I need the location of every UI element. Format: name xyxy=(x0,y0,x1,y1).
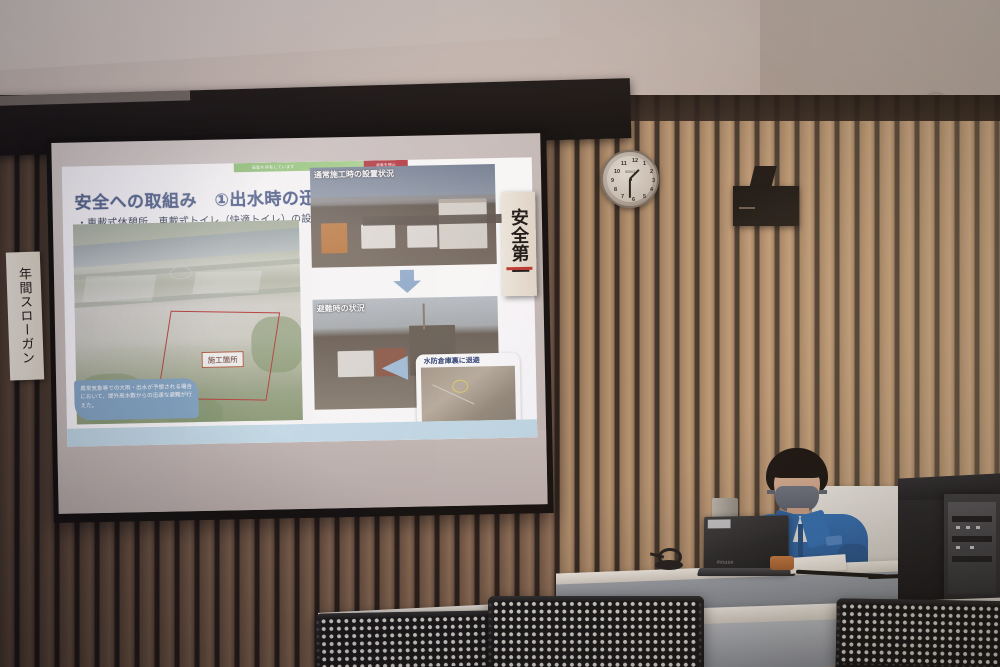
av-rack-row[interactable] xyxy=(952,516,992,522)
evac-truck xyxy=(338,351,375,378)
clock-numeral: 1 xyxy=(643,161,646,167)
desk-orange-object xyxy=(770,556,794,570)
av-rack-led xyxy=(966,526,970,529)
projection-screen-surface: 画面を共有しています 共有を停止 安全への取組み ①出水時の迅速な対応 ・車載式… xyxy=(51,133,547,514)
av-rack-row[interactable] xyxy=(952,556,992,562)
clock-numeral: 6 xyxy=(632,197,635,203)
clock-minute-hand xyxy=(629,179,631,198)
av-rack-panel[interactable] xyxy=(948,502,996,594)
microphone-base xyxy=(655,560,683,570)
av-rack-row[interactable] xyxy=(952,536,992,542)
clock-numeral: 4 xyxy=(650,187,653,193)
clock-numeral: 11 xyxy=(621,161,627,167)
banner-partial-hidden: 安全第一 xyxy=(501,192,537,297)
clock-numeral: 7 xyxy=(621,194,624,200)
clock-numeral: 5 xyxy=(643,194,646,200)
chair-back[interactable] xyxy=(488,596,704,667)
chair-back[interactable] xyxy=(835,598,1000,667)
clock-center-pin xyxy=(629,178,632,181)
av-equipment-rack[interactable] xyxy=(944,494,1000,602)
mask-strap-left xyxy=(767,490,775,494)
wall-speaker xyxy=(733,186,799,226)
clock-numeral: 10 xyxy=(614,169,620,175)
chair-back[interactable] xyxy=(315,610,496,667)
av-rack-led xyxy=(956,526,960,529)
jacket-badge xyxy=(826,535,843,546)
speaker-brand-badge xyxy=(739,207,755,209)
chair-mesh xyxy=(840,603,1000,666)
banner-annual-slogan: 年間スローガン xyxy=(6,251,44,380)
av-rack-led xyxy=(970,546,974,549)
ceiling-soffit xyxy=(0,0,560,90)
clock-numeral: 8 xyxy=(614,187,617,193)
clock-numeral: 9 xyxy=(611,178,614,184)
laptop-brand-logo: mouse xyxy=(717,560,734,566)
map-site-label: 施工箇所 xyxy=(202,351,244,368)
inset-photo-card: 水防倉庫裏に退避 xyxy=(416,353,521,427)
inset-pointer-arrow xyxy=(382,356,408,381)
inset-aerial-photo xyxy=(421,366,516,422)
chair-mesh xyxy=(493,601,699,667)
banner-annual-slogan-text: 年間スローガン xyxy=(16,267,34,365)
mask-strap-right xyxy=(819,490,827,494)
banner-red-rule xyxy=(506,267,532,270)
inset-highlight-circle xyxy=(452,380,468,393)
slide-callout: 異常気象等での大雨・出水が予想される場合において、堤外高水敷からの迅速な避難が行… xyxy=(74,378,199,420)
wall-clock: 12 1 2 3 4 5 6 7 8 9 10 11 SEIKO xyxy=(601,150,659,208)
inset-label: 水防倉庫裏に退避 xyxy=(424,355,480,366)
av-rack-led xyxy=(956,546,960,549)
clock-numeral: 2 xyxy=(650,169,653,175)
laptop-sticker xyxy=(708,519,731,528)
clock-face: 12 1 2 3 4 5 6 7 8 9 10 11 SEIKO xyxy=(607,156,653,202)
clock-numeral: 12 xyxy=(632,158,638,164)
clock-numeral: 3 xyxy=(652,178,655,184)
projection-screen: 画面を共有しています 共有を停止 安全への取組み ①出水時の迅速な対応 ・車載式… xyxy=(46,128,554,523)
av-rack-led xyxy=(976,526,980,529)
photo-scene: 12 1 2 3 4 5 6 7 8 9 10 11 SEIKO xyxy=(0,0,1000,667)
projector-hotspot xyxy=(51,133,547,336)
chair-mesh xyxy=(321,616,492,667)
